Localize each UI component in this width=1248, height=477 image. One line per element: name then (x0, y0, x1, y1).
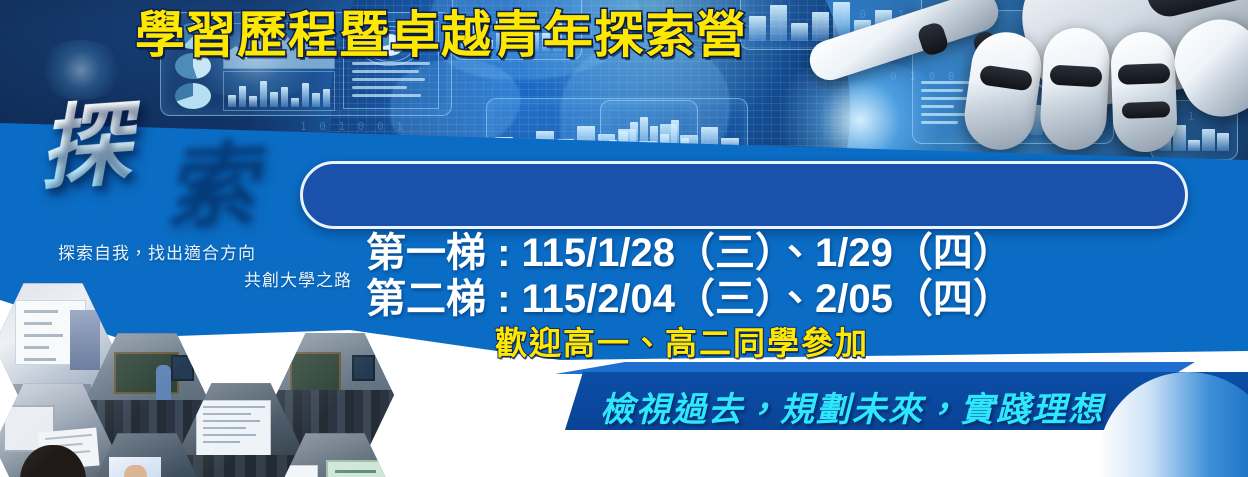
event-banner: 1 0 1 1 0 0 1 0 1 0 1 0 0 1 1 0 1 0 0 1 … (0, 0, 1248, 477)
tagline-text: 檢視過去，規劃未來，實踐理想 (600, 382, 1104, 431)
binary-code-text: 1 0 1 0 0 1 (300, 120, 406, 133)
robot-ring-finger (1039, 26, 1111, 151)
brand-char-1: 探 (34, 89, 131, 203)
main-title-pill (300, 161, 1188, 229)
robot-pinky-finger (1110, 31, 1178, 153)
welcome-note: 歡迎高一、高二同學參加 (495, 318, 869, 364)
brand-wordmark: 探索 (35, 89, 251, 195)
subtitle-line-2: 共創大學之路 (58, 267, 358, 294)
subtitle-line-1: 探索自我，找出適合方向 (58, 244, 256, 263)
main-title: 學習歷程暨卓越青年探索營 (0, 0, 882, 62)
session-2-date: 第二梯 : 115/2/04（三）、2/05（四） (366, 277, 1166, 322)
session-1-date: 第一梯 : 115/1/28（三）、1/29（四） (366, 231, 1166, 276)
robot-middle-finger (960, 28, 1046, 155)
subtitle-block: 探索自我，找出適合方向 共創大學之路 (58, 240, 358, 294)
session-dates: 第一梯 : 115/1/28（三）、1/29（四） 第二梯 : 115/2/04… (366, 231, 1166, 323)
brand-char-2: 索 (159, 134, 252, 229)
